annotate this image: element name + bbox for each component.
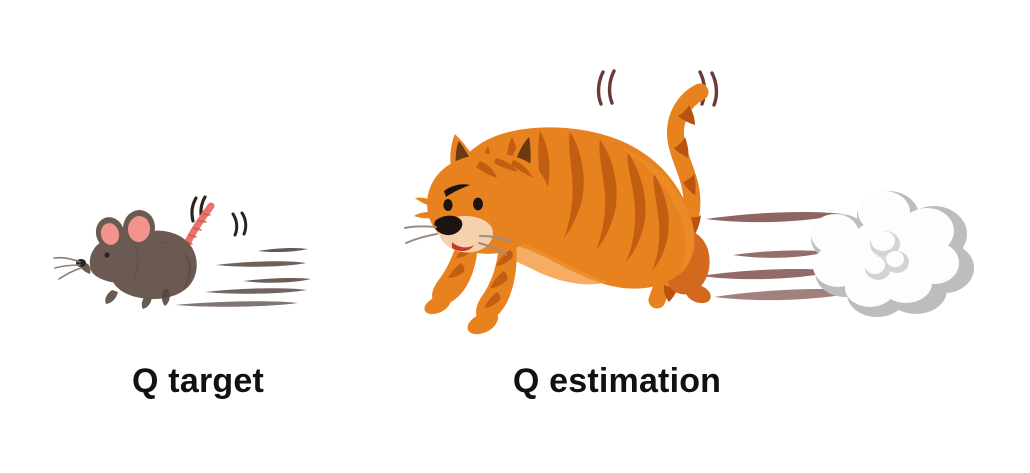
dust-cloud-layer [0,0,1030,473]
caption-q-target: Q target [0,362,396,401]
illustration-canvas: Q target Q estimation [0,0,1030,473]
caption-q-estimation: Q estimation [400,362,834,401]
dust-cloud [811,191,974,317]
